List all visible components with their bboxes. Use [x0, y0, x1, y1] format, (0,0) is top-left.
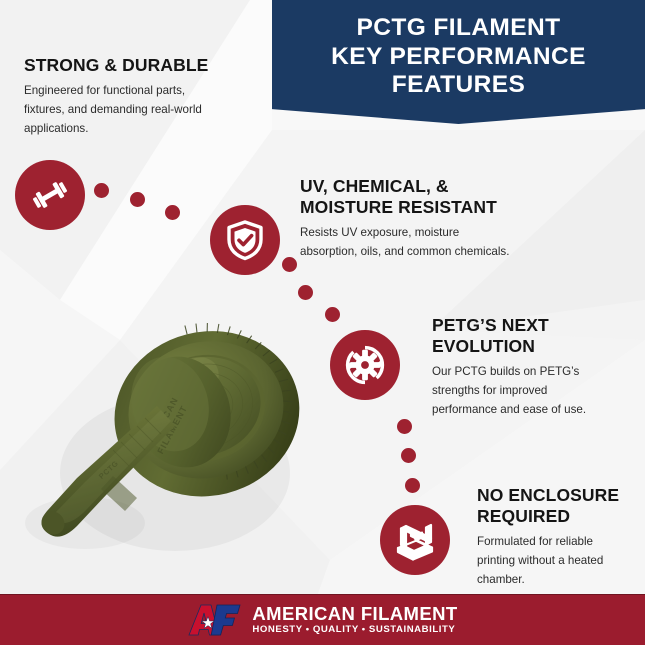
feature-body-line-2: absorption, oils, and common chemicals.: [300, 243, 530, 262]
feature-title: NO ENCLOSURE REQUIRED: [477, 485, 642, 527]
feature-title-line-2: MOISTURE RESISTANT: [300, 197, 530, 218]
feature-title-line-2: REQUIRED: [477, 506, 642, 527]
feature-title-line-1: UV, CHEMICAL, &: [300, 176, 530, 197]
american-filament-af-logo: [187, 603, 243, 637]
connector-dot: [282, 257, 297, 272]
feature-body: Resists UV exposure, moisture absorption…: [300, 224, 530, 262]
footer-bar: AMERICAN FILAMENT HONESTY • QUALITY • SU…: [0, 594, 645, 645]
feature-body-line-1: Our PCTG builds on PETG’s: [432, 363, 632, 382]
infographic-canvas: PCTG FILAMENT KEY PERFORMANCE FEATURES S…: [0, 0, 645, 645]
dumbbell-icon: [30, 175, 70, 215]
feature-body-line-3: applications.: [24, 120, 239, 139]
feature-title-line-2: EVOLUTION: [432, 336, 632, 357]
connector-dot: [165, 205, 180, 220]
header-title-line-2: KEY PERFORMANCE: [331, 43, 586, 72]
feature-block-uv-chemical-moisture: UV, CHEMICAL, & MOISTURE RESISTANT Resis…: [300, 176, 530, 262]
feature-body: Formulated for reliable printing without…: [477, 533, 642, 589]
feature-body-line-2: fixtures, and demanding real-world: [24, 101, 239, 120]
product-image-3d-printed-gear: AMERICAN FILAMENT PCTG: [25, 298, 315, 573]
feature-block-petg-next-evolution: PETG’S NEXT EVOLUTION Our PCTG builds on…: [432, 315, 632, 419]
connector-dot: [401, 448, 416, 463]
feature-title: STRONG & DURABLE: [24, 55, 239, 76]
feature-body: Our PCTG builds on PETG’s strengths for …: [432, 363, 632, 419]
feature-body-line-1: Formulated for reliable: [477, 533, 642, 552]
connector-dot: [325, 307, 340, 322]
feature-body-line-3: performance and ease of use.: [432, 401, 632, 420]
feature-body: Engineered for functional parts, fixture…: [24, 82, 239, 138]
feature-block-no-enclosure-required: NO ENCLOSURE REQUIRED Formulated for rel…: [477, 485, 642, 589]
feature-body-line-3: chamber.: [477, 571, 642, 590]
shield-check-icon: [224, 219, 266, 261]
feature-block-strong-durable: STRONG & DURABLE Engineered for function…: [24, 55, 239, 138]
connector-dot: [130, 192, 145, 207]
feature-body-line-2: strengths for improved: [432, 382, 632, 401]
feature-icon-circle-4: [380, 505, 450, 575]
connector-dot: [397, 419, 412, 434]
feature-body-line-1: Resists UV exposure, moisture: [300, 224, 530, 243]
feature-title-line-1: PETG’S NEXT: [432, 315, 632, 336]
connector-dot: [94, 183, 109, 198]
feature-title-line-1: STRONG & DURABLE: [24, 55, 239, 76]
brand-name: AMERICAN FILAMENT: [252, 604, 457, 623]
brand-tagline: HONESTY • QUALITY • SUSTAINABILITY: [252, 624, 457, 636]
feature-title: PETG’S NEXT EVOLUTION: [432, 315, 632, 357]
connector-dot: [405, 478, 420, 493]
feature-icon-circle-1: [15, 160, 85, 230]
header-title-line-3: FEATURES: [331, 71, 586, 100]
feature-body-line-1: Engineered for functional parts,: [24, 82, 239, 101]
header-banner: PCTG FILAMENT KEY PERFORMANCE FEATURES: [272, 0, 645, 124]
feature-icon-circle-3: [330, 330, 400, 400]
3d-printer-icon: [393, 518, 437, 562]
gear-refresh-icon: [342, 342, 388, 388]
page-title: PCTG FILAMENT KEY PERFORMANCE FEATURES: [319, 14, 598, 110]
feature-icon-circle-2: [210, 205, 280, 275]
feature-title-line-1: NO ENCLOSURE: [477, 485, 642, 506]
header-title-line-1: PCTG FILAMENT: [331, 14, 586, 43]
feature-title: UV, CHEMICAL, & MOISTURE RESISTANT: [300, 176, 530, 218]
feature-body-line-2: printing without a heated: [477, 552, 642, 571]
